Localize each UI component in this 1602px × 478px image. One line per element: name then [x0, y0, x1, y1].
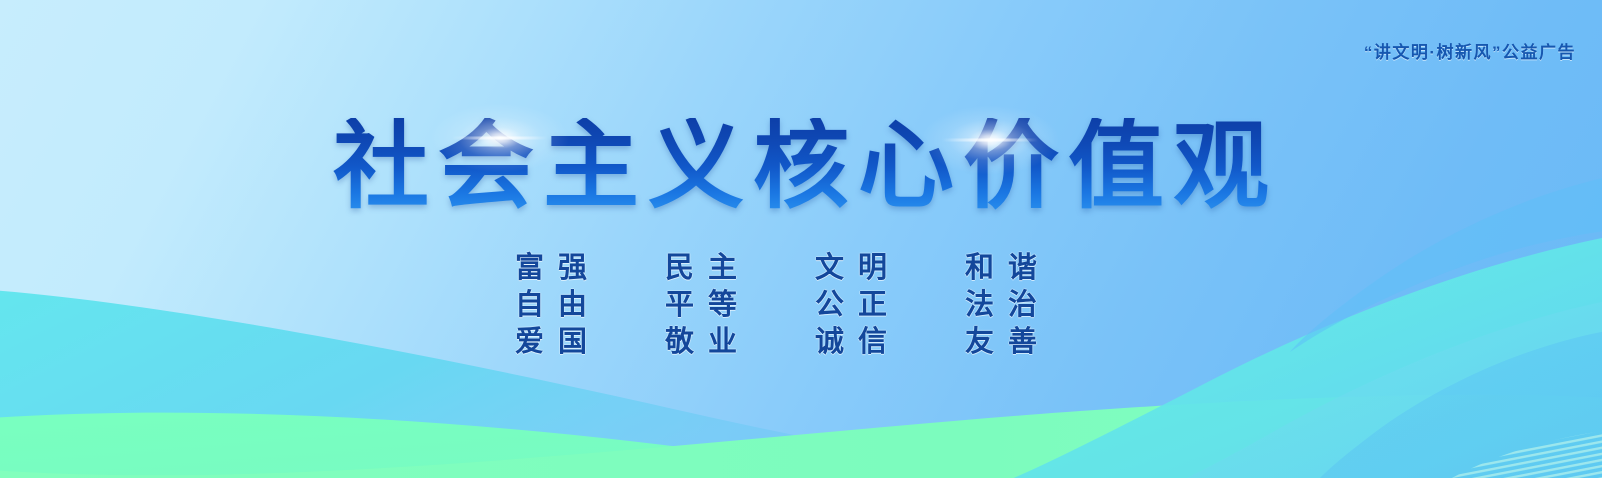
value-item: 友善 [951, 320, 1101, 357]
value-item: 平等 [651, 283, 801, 320]
value-item: 诚信 [801, 320, 951, 357]
value-item: 文明 [801, 246, 951, 283]
value-item: 公正 [801, 283, 951, 320]
background-wave-artwork [0, 0, 1602, 478]
value-item: 和谐 [951, 246, 1101, 283]
value-item: 富强 [501, 246, 651, 283]
campaign-tagline: “讲文明·树新风”公益广告 [1364, 38, 1576, 63]
value-item: 民主 [651, 246, 801, 283]
value-item: 爱国 [501, 320, 651, 357]
value-item: 自由 [501, 283, 651, 320]
value-item: 法治 [951, 283, 1101, 320]
core-values-banner: “讲文明·树新风”公益广告 社会主义核心价值观 富强 民主 文明 和谐 自由 平… [0, 0, 1602, 478]
core-values-grid: 富强 民主 文明 和谐 自由 平等 公正 法治 爱国 敬业 诚信 友善 [501, 246, 1101, 357]
value-item: 敬业 [651, 320, 801, 357]
